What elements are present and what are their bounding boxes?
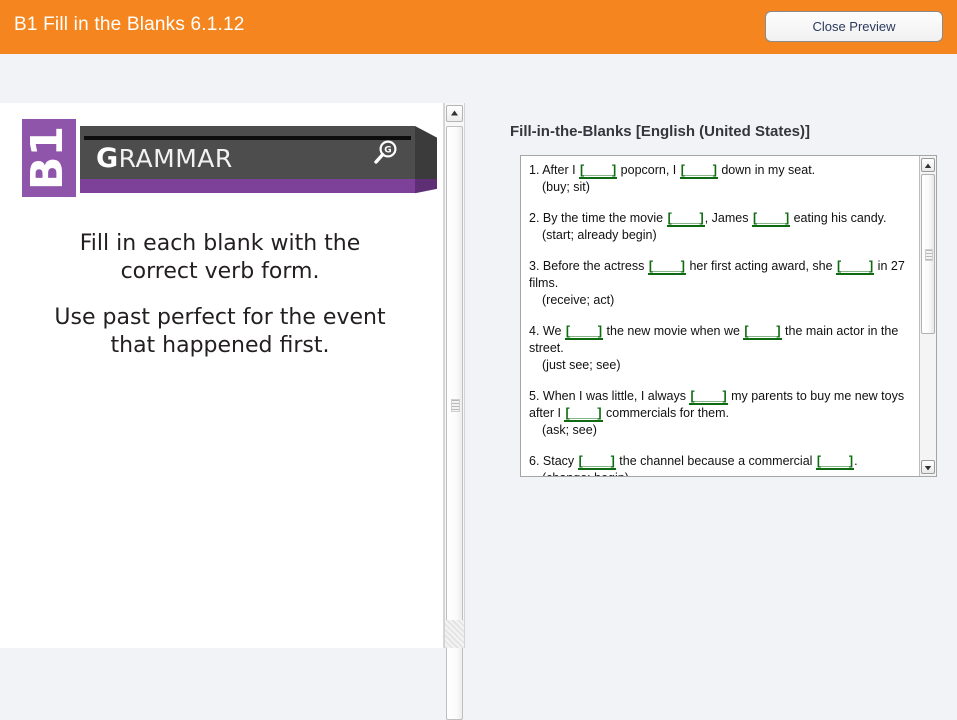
slide-scrollbar[interactable] xyxy=(444,103,465,648)
answer-blank[interactable]: [____] xyxy=(564,406,602,422)
question-text-fragment: down in my seat. xyxy=(718,163,815,177)
question-text: 1. After I [____] popcorn, I [____] down… xyxy=(529,162,909,179)
chevron-up-icon xyxy=(447,106,462,121)
question-text-fragment: popcorn, I xyxy=(617,163,680,177)
question-text-fragment: eating his candy. xyxy=(790,211,886,225)
question-item: 3. Before the actress [____] her first a… xyxy=(529,258,909,309)
question-text-fragment: , James xyxy=(705,211,752,225)
banner-top-rule xyxy=(84,136,411,140)
question-item: 1. After I [____] popcorn, I [____] down… xyxy=(529,162,909,196)
question-text: 4. We [____] the new movie when we [____… xyxy=(529,323,909,357)
answer-blank[interactable]: [____] xyxy=(836,259,874,275)
answer-blank[interactable]: [____] xyxy=(752,211,790,227)
app-header: B1 Fill in the Blanks 6.1.12 Close Previ… xyxy=(0,0,957,54)
question-text-fragment: Before the actress xyxy=(543,259,648,273)
question-hint: (change; begin) xyxy=(529,470,909,477)
banner-body: GRAMMAR G xyxy=(80,126,415,179)
close-preview-button[interactable]: Close Preview xyxy=(765,11,943,42)
answer-blank[interactable]: [____] xyxy=(816,454,854,470)
question-number: 1. xyxy=(529,163,542,177)
question-text-fragment: We xyxy=(543,324,565,338)
question-number: 5. xyxy=(529,389,543,403)
question-text-fragment: After I xyxy=(542,163,579,177)
preview-heading: Fill-in-the-Blanks [English (United Stat… xyxy=(470,123,850,140)
preview-toolbar: Fill-in-the-Blanks [English (United Stat… xyxy=(0,54,957,103)
question-number: 6. xyxy=(529,454,543,468)
level-badge-b1: B1 xyxy=(22,119,76,197)
question-hint: (ask; see) xyxy=(529,422,909,439)
question-number: 3. xyxy=(529,259,543,273)
question-text: 2. By the time the movie [____], James [… xyxy=(529,210,909,227)
question-scroll-grip xyxy=(925,249,933,261)
answer-blank[interactable]: [____] xyxy=(689,389,727,405)
question-text-fragment: the channel because a commercial xyxy=(616,454,816,468)
instruction-line-2: Use past perfect for the event that happ… xyxy=(40,304,400,360)
slide-scroll-track-bottom[interactable] xyxy=(444,620,465,648)
question-text-fragment: the new movie when we xyxy=(603,324,743,338)
question-hint: (receive; act) xyxy=(529,292,909,309)
question-list: 1. After I [____] popcorn, I [____] down… xyxy=(529,162,909,477)
answer-blank[interactable]: [____] xyxy=(578,454,616,470)
question-text: 3. Before the actress [____] her first a… xyxy=(529,258,909,292)
question-text: 5. When I was little, I always [____] my… xyxy=(529,388,909,422)
question-item: 4. We [____] the new movie when we [____… xyxy=(529,323,909,374)
question-scroll-thumb[interactable] xyxy=(921,174,935,334)
question-panel: 1. After I [____] popcorn, I [____] down… xyxy=(520,155,937,477)
slide-scroll-grip xyxy=(451,399,460,412)
question-item: 2. By the time the movie [____], James [… xyxy=(529,210,909,244)
answer-blank[interactable]: [____] xyxy=(565,324,603,340)
grammar-magnifier-icon: G xyxy=(371,138,401,168)
chevron-down-icon xyxy=(922,462,934,474)
question-scroll-up-button[interactable] xyxy=(921,158,935,172)
answer-blank[interactable]: [____] xyxy=(743,324,781,340)
question-number: 4. xyxy=(529,324,543,338)
banner-accent-bar xyxy=(80,179,415,193)
banner-label-rest: RAMMAR xyxy=(119,144,233,173)
question-text: 6. Stacy [____] the channel because a co… xyxy=(529,453,909,470)
question-scrollbar[interactable] xyxy=(919,156,936,476)
question-hint: (buy; sit) xyxy=(529,179,909,196)
question-scroll-down-button[interactable] xyxy=(921,460,935,474)
question-hint: (just see; see) xyxy=(529,357,909,374)
svg-text:G: G xyxy=(384,146,391,156)
answer-blank[interactable]: [____] xyxy=(667,211,705,227)
slide-instructions: Fill in each blank with the correct verb… xyxy=(40,230,400,360)
slide-scroll-up-button[interactable] xyxy=(446,105,463,122)
svg-text:B1: B1 xyxy=(22,126,73,190)
question-text-fragment: her first acting award, she xyxy=(686,259,836,273)
grammar-banner: GRAMMAR G xyxy=(80,126,415,193)
banner-label: GRAMMAR xyxy=(96,145,233,173)
page-title: B1 Fill in the Blanks 6.1.12 xyxy=(14,14,245,36)
banner-label-initial: G xyxy=(96,143,119,174)
answer-blank[interactable]: [____] xyxy=(579,163,617,179)
question-text-fragment: Stacy xyxy=(543,454,578,468)
question-text-fragment: . xyxy=(854,454,857,468)
instruction-line-1: Fill in each blank with the correct verb… xyxy=(40,230,400,286)
question-item: 5. When I was little, I always [____] my… xyxy=(529,388,909,439)
question-text-fragment: commercials for them. xyxy=(603,406,729,420)
question-text-fragment: When I was little, I always xyxy=(543,389,690,403)
answer-blank[interactable]: [____] xyxy=(680,163,718,179)
chevron-up-icon xyxy=(922,160,934,172)
b1-logo-glyph: B1 xyxy=(22,119,76,197)
question-item: 6. Stacy [____] the channel because a co… xyxy=(529,453,909,477)
answer-blank[interactable]: [____] xyxy=(648,259,686,275)
question-number: 2. xyxy=(529,211,543,225)
question-text-fragment: By the time the movie xyxy=(543,211,667,225)
question-hint: (start; already begin) xyxy=(529,227,909,244)
